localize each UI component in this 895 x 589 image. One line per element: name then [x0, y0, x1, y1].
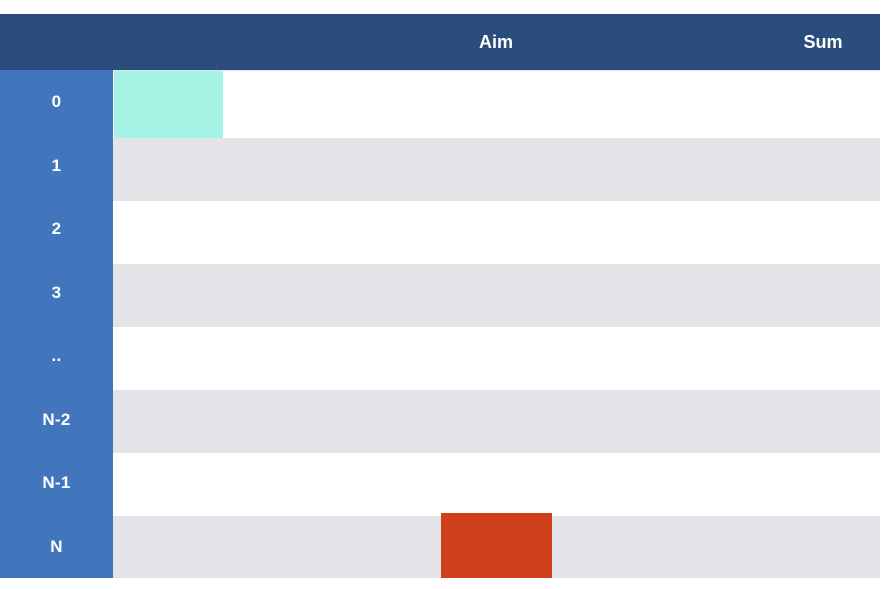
row-index-n-minus-1: N-1	[0, 451, 113, 515]
table-row	[0, 327, 895, 391]
row-index-column: 0 1 2 3 .. N-2 N-1 N	[0, 70, 113, 578]
row-index-0: 0	[0, 70, 113, 134]
table-body	[0, 70, 895, 578]
aim-start-cell	[114, 71, 223, 138]
row-stripe	[113, 264, 880, 328]
row-index-ellipsis: ..	[0, 324, 113, 388]
table-row	[0, 201, 895, 265]
table-header-bar: Aim Sum	[0, 14, 880, 70]
table-row	[0, 264, 895, 328]
row-stripe	[113, 138, 880, 202]
row-index-n: N	[0, 515, 113, 579]
row-stripe	[113, 201, 880, 265]
table-row	[0, 390, 895, 454]
matrix-aim-sum-table: Aim Sum 0 1	[0, 0, 895, 589]
row-stripe	[113, 71, 880, 135]
row-stripe	[113, 453, 880, 517]
row-stripe	[113, 327, 880, 391]
row-index-1: 1	[0, 134, 113, 198]
row-index-3: 3	[0, 261, 113, 325]
aim-end-cell	[441, 513, 552, 578]
table-row	[0, 138, 895, 202]
table-row	[0, 453, 895, 517]
row-index-2: 2	[0, 197, 113, 261]
row-stripe	[113, 390, 880, 454]
row-index-n-minus-2: N-2	[0, 388, 113, 452]
column-header-sum: Sum	[763, 14, 883, 70]
column-header-aim: Aim	[436, 14, 556, 70]
